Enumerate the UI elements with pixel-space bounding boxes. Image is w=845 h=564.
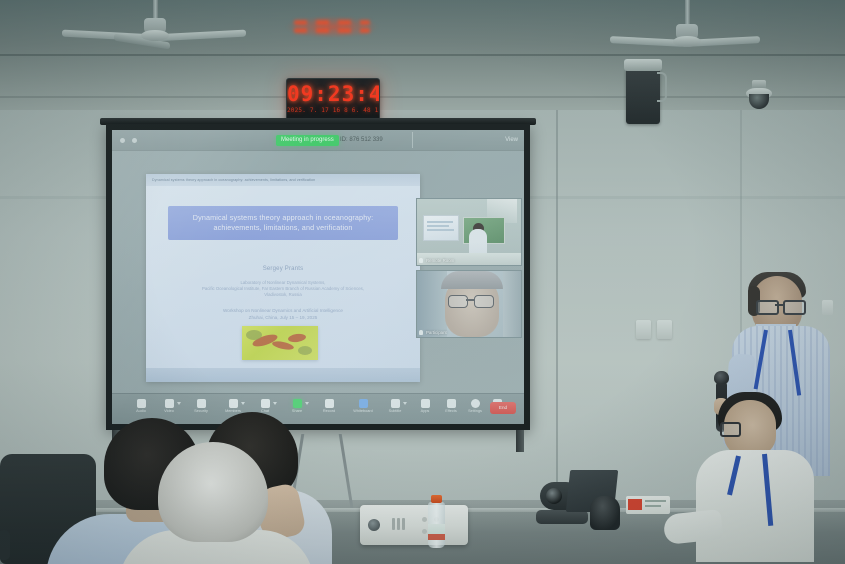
meeting-stage: Dynamical systems theory approach in oce… xyxy=(112,150,524,394)
info-icon[interactable] xyxy=(132,138,137,143)
toolbar-label: Audio xyxy=(128,409,154,413)
toolbar-item-security[interactable]: Security xyxy=(188,399,214,413)
end-meeting-button[interactable]: End xyxy=(490,402,516,414)
desk-microphone xyxy=(590,496,620,530)
ceiling-seam xyxy=(0,96,845,98)
toolbar-label: Video xyxy=(156,409,182,413)
projected-meeting-screen[interactable]: Meeting in progress ID: 876 512 339 View… xyxy=(112,130,524,424)
desk-card xyxy=(626,496,670,514)
wall-socket[interactable] xyxy=(657,320,672,339)
clock-ceiling-reflection xyxy=(286,16,378,38)
meeting-app-topbar: Meeting in progress ID: 876 512 339 View xyxy=(112,130,524,151)
back-arrow-icon[interactable] xyxy=(120,138,125,143)
remote-projection xyxy=(423,215,459,241)
attendee-body xyxy=(696,450,814,562)
view-mode-label[interactable]: View xyxy=(505,135,518,146)
toolbar-label: Record xyxy=(316,409,342,413)
participant-hair xyxy=(441,271,503,289)
dome-security-camera xyxy=(746,80,772,110)
remote-room-tile[interactable]: Remote Room xyxy=(416,198,522,266)
toolbar-label: Whiteboard xyxy=(346,409,380,413)
speaker-closeup-tile[interactable]: Participant xyxy=(416,270,522,338)
fan-rod xyxy=(685,0,690,26)
toolbar-item-record[interactable]: Record xyxy=(316,399,342,413)
clock-time: 09:23:43 xyxy=(287,82,379,106)
ocean-eddy-map-figure xyxy=(242,326,318,360)
topbar-divider xyxy=(412,132,413,148)
ceiling-fan xyxy=(672,0,702,46)
ptz-camera-lens xyxy=(546,488,562,504)
wall-seam xyxy=(556,110,558,510)
ceiling xyxy=(0,0,845,118)
ceiling-seam xyxy=(0,54,845,56)
camera-dome xyxy=(749,94,769,109)
effects-icon xyxy=(447,399,456,408)
projector-lens xyxy=(368,519,380,531)
attendee-arm xyxy=(663,509,724,545)
toolbar-item-members[interactable]: Members xyxy=(220,399,246,413)
fan-hub xyxy=(673,36,701,47)
toolbar-item-whiteboard[interactable]: Whiteboard xyxy=(346,399,380,413)
fan-hub xyxy=(141,30,169,41)
clock-subline: 2025. 7. 17 16 8 6. 48 12% xyxy=(287,107,379,114)
glasses-icon xyxy=(783,300,806,315)
glasses-icon xyxy=(756,300,779,315)
whiteboard-icon xyxy=(359,399,368,408)
chevron-up-icon[interactable] xyxy=(273,402,277,405)
shared-slide: Dynamical systems theory approach in oce… xyxy=(146,174,420,382)
slide-event: Workshop on Nonlinear Dynamics and Artif… xyxy=(168,308,398,321)
audience-hair xyxy=(158,442,268,542)
chevron-up-icon[interactable] xyxy=(241,402,245,405)
microphone-head xyxy=(714,371,729,384)
ceiling-fan xyxy=(140,0,170,54)
toolbar-item-video[interactable]: Video xyxy=(156,399,182,413)
chevron-up-icon[interactable] xyxy=(177,402,181,405)
slide-title-box: Dynamical systems theory approach in oce… xyxy=(168,206,398,240)
wall-speaker xyxy=(626,68,660,124)
meeting-id-label: ID: 876 512 339 xyxy=(340,135,383,146)
slide-affiliation: Laboratory of Nonlinear Dynamical System… xyxy=(168,280,398,299)
toolbar-item-audio[interactable]: Audio xyxy=(128,399,154,413)
screen-roller xyxy=(516,430,524,452)
bottle-cap xyxy=(431,495,442,503)
chat-icon xyxy=(261,399,270,408)
fan-rod xyxy=(153,0,158,20)
audience-member-grey-hair xyxy=(158,442,268,564)
microphone-icon xyxy=(137,399,146,408)
meeting-status-badge: Meeting in progress xyxy=(276,135,339,146)
toolbar-item-subtitle[interactable]: Subtitle xyxy=(382,399,408,413)
glasses-bridge xyxy=(775,304,783,306)
toolbar-item-chat[interactable]: Chat xyxy=(252,399,278,413)
speaker-mount xyxy=(624,59,662,71)
toolbar-item-effects[interactable]: Effects xyxy=(438,399,464,413)
gear-icon xyxy=(471,399,480,408)
conference-room-photo: 09:23:43 2025. 7. 17 16 8 6. 48 12% Meet… xyxy=(0,0,845,564)
record-icon xyxy=(325,399,334,408)
chevron-up-icon[interactable] xyxy=(403,402,407,405)
water-bottle[interactable] xyxy=(428,502,445,548)
share-screen-icon xyxy=(293,399,302,408)
shield-icon xyxy=(197,399,206,408)
table-projector xyxy=(360,505,468,545)
toolbar-label: Apps xyxy=(412,409,438,413)
toolbar-item-share[interactable]: Share xyxy=(284,399,310,413)
subtitle-icon xyxy=(391,399,400,408)
slide-author: Sergey Prants xyxy=(146,266,420,272)
toolbar-label: Effects xyxy=(438,409,464,413)
glasses-icon xyxy=(720,422,741,437)
glasses-icon xyxy=(448,295,468,308)
apps-icon xyxy=(421,399,430,408)
microphone-icon xyxy=(419,330,423,335)
camera-icon xyxy=(165,399,174,408)
microphone-icon xyxy=(419,258,423,263)
toolbar-item-apps[interactable]: Apps xyxy=(412,399,438,413)
slide-title: Dynamical systems theory approach in oce… xyxy=(176,213,390,233)
participants-icon xyxy=(229,399,238,408)
slide-footer-strip xyxy=(146,368,420,382)
bottle-label-accent xyxy=(428,534,445,540)
glasses-bridge xyxy=(466,299,474,301)
tile-name-label: Participant xyxy=(426,330,447,335)
slide-header-text: Dynamical systems theory approach in oce… xyxy=(146,174,420,186)
tile-name-label: Remote Room xyxy=(426,258,454,263)
toolbar-label: Subtitle xyxy=(382,409,408,413)
seated-attendee-white-polo xyxy=(708,392,820,564)
speaker-bracket xyxy=(657,72,667,102)
wall-socket[interactable] xyxy=(636,320,651,339)
chevron-up-icon[interactable] xyxy=(305,402,309,405)
glasses-icon xyxy=(474,295,494,308)
